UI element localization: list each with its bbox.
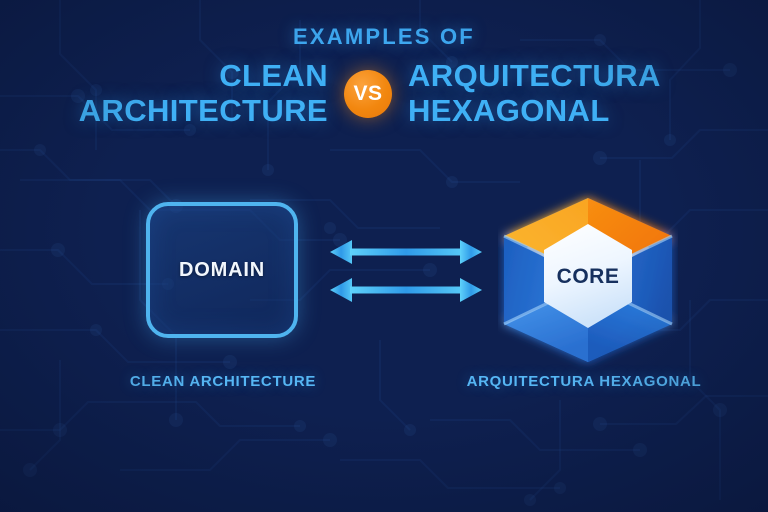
hexagonal-cube-icon: CORE [498,190,678,370]
arrow-bottom-icon [330,278,482,302]
vs-badge-label: VS [353,82,382,106]
poster-canvas: EXAMPLES OF CLEAN ARCHITECTURE VS ARQUIT… [0,0,768,512]
eyebrow-text: EXAMPLES OF [0,24,768,50]
core-hexagon-label: CORE [557,265,620,288]
right-caption: ARQUITECTURA HEXAGONAL [438,373,730,390]
right-title: ARQUITECTURA HEXAGONAL [408,59,698,128]
left-title: CLEAN ARCHITECTURE [70,59,328,128]
bidirectional-arrows [330,240,482,302]
domain-box: DOMAIN [146,202,298,338]
versus-row: CLEAN ARCHITECTURE VS ARQUITECTURA HEXAG… [0,59,768,128]
vs-badge: VS [344,70,392,118]
poster-header: EXAMPLES OF CLEAN ARCHITECTURE VS ARQUIT… [0,0,768,128]
domain-box-label: DOMAIN [179,259,265,282]
arrow-top-icon [330,240,482,264]
left-caption: CLEAN ARCHITECTURE [98,373,348,390]
